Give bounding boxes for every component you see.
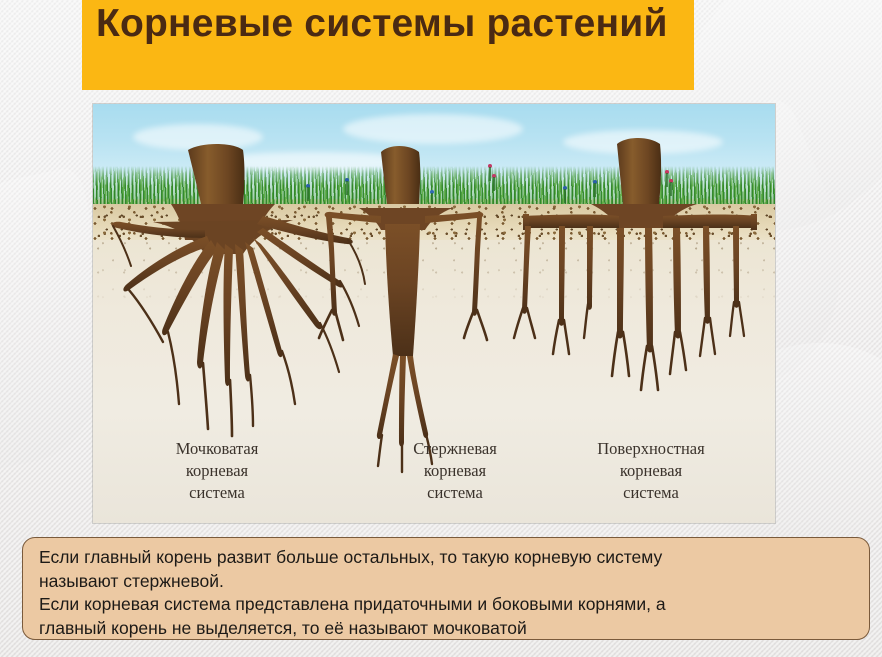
- fibrous-root-system: [111, 144, 365, 436]
- title-banner: Корневые системы растений: [82, 0, 694, 90]
- caption-surface-root-system: Поверхностная корневая система: [551, 438, 751, 504]
- caption-tap-root-system: Стержневая корневая система: [355, 438, 555, 504]
- tap-root-system: [319, 146, 487, 472]
- root-systems-illustration: Мочковатая корневая система Стержневая к…: [93, 104, 775, 523]
- page-title: Корневые системы растений: [96, 0, 680, 47]
- description-box: Если главный корень развит больше осталь…: [22, 537, 870, 640]
- caption-fibrous-root-system: Мочковатая корневая система: [117, 438, 317, 504]
- surface-root-system: [514, 138, 757, 390]
- description-paragraph-2: Если корневая система представлена прида…: [39, 593, 855, 640]
- description-paragraph-1: Если главный корень развит больше осталь…: [39, 546, 855, 593]
- slide-canvas: Корневые системы растений: [0, 0, 882, 657]
